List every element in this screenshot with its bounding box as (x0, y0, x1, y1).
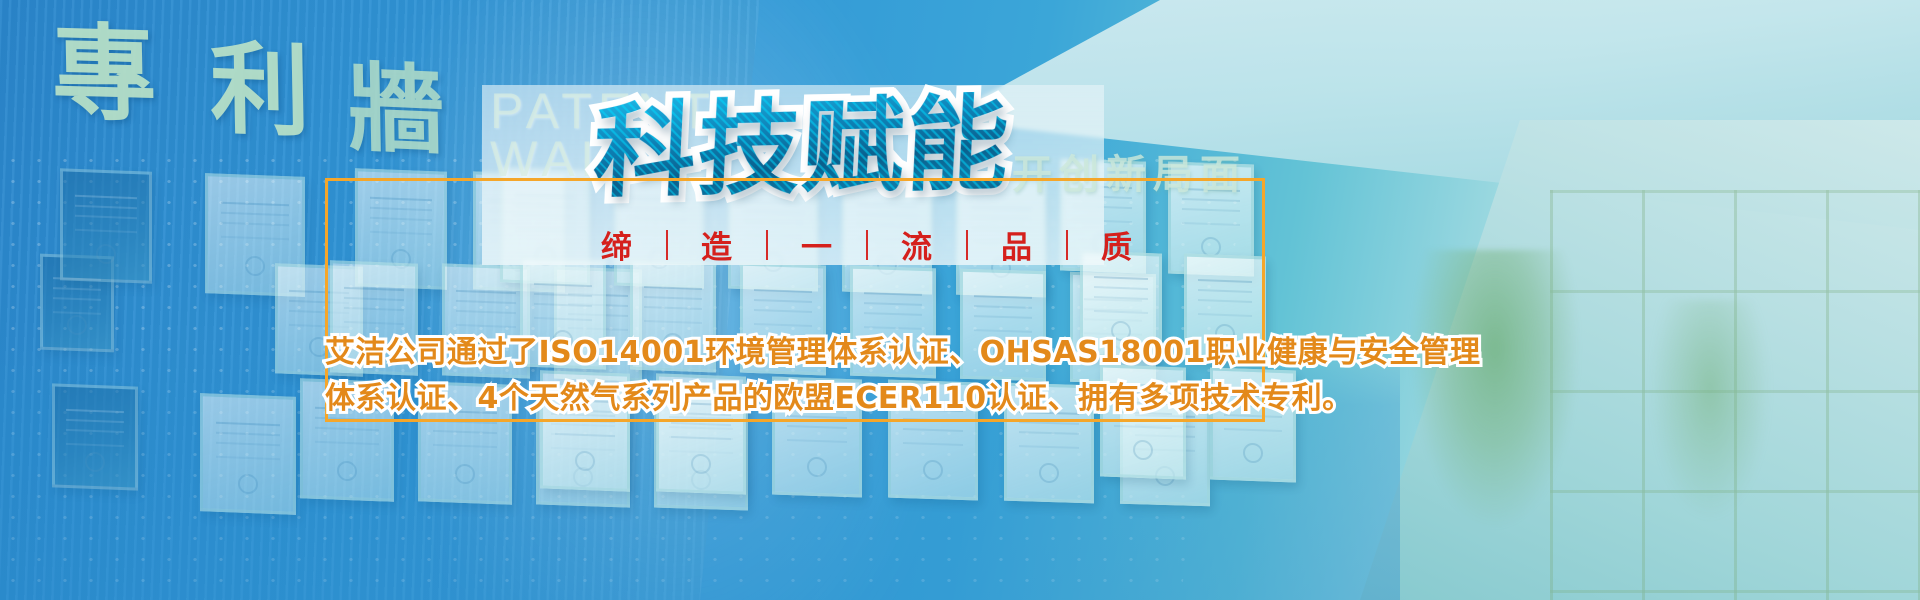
slogan-separator (1066, 230, 1068, 260)
paragraph-line-1: 艾洁公司通过了ISO14001环境管理体系认证、OHSAS18001职业健康与安… (325, 330, 1265, 376)
certificate-frame (200, 393, 296, 515)
certificate-seal-icon (238, 474, 258, 495)
slogan-word: 品 (990, 222, 1044, 267)
slogan-row: 缔造一流品质 (590, 222, 1144, 267)
certificate-seal-icon (807, 457, 827, 478)
paragraph-line-2: 体系认证、4个天然气系列产品的欧盟ECER110认证、拥有多项技术专利。 (325, 376, 1265, 422)
certificate-text-lines (344, 287, 403, 291)
certificate-text-lines (864, 292, 922, 296)
certificate-seal-icon (923, 460, 943, 481)
certificate-text-lines (754, 289, 812, 293)
slogan-word: 缔 (590, 222, 644, 267)
wall-character-2: 利 (209, 38, 313, 142)
slogan-separator (766, 230, 768, 260)
wall-character-1: 專 (51, 21, 159, 128)
slogan-separator (866, 230, 868, 260)
certificate-text-lines (216, 421, 281, 425)
slogan-word: 一 (790, 222, 844, 267)
wall-character-3: 牆 (347, 60, 447, 160)
slogan-separator (666, 230, 668, 260)
description-paragraph: 艾洁公司通过了ISO14001环境管理体系认证、OHSAS18001职业健康与安… (325, 330, 1265, 421)
slogan-word: 造 (690, 222, 744, 267)
certificate-seal-icon (1039, 463, 1059, 484)
plant-decoration (1410, 250, 1580, 530)
certificate-seal-icon (96, 244, 116, 265)
certificate-text-lines (370, 196, 432, 200)
certificate-seal-icon (67, 315, 87, 336)
certificate-text-lines (75, 195, 137, 199)
certificate-seal-icon (1243, 443, 1263, 464)
certificate-seal-icon (691, 454, 711, 475)
certificate-text-lines (974, 295, 1032, 299)
certificate-text-lines (644, 286, 702, 290)
certificate-seal-icon (575, 451, 595, 472)
certificate-seal-icon (245, 256, 265, 277)
promo-banner: 專 利 牆 PATENT WALL 开创新局面 科技赋能 科技赋能 缔造一流品质… (0, 0, 1920, 600)
slogan-separator (966, 230, 968, 260)
certificate-seal-icon (85, 452, 105, 473)
certificate-text-lines (534, 283, 592, 287)
certificate-seal-icon (337, 461, 357, 482)
certificate-text-lines (1198, 279, 1253, 283)
certificate-text-lines (221, 202, 289, 207)
certificate-frame (52, 383, 138, 490)
slogan-word: 质 (1090, 222, 1144, 267)
certificate-seal-icon (1133, 440, 1153, 461)
certificate-seal-icon (455, 464, 475, 485)
ghost-text-chinese: 开创新局面 (1012, 142, 1247, 200)
certificate-text-lines (1094, 276, 1149, 280)
certificate-text-lines (456, 290, 515, 294)
headline-title: 科技赋能 (591, 88, 1013, 209)
certificate-text-lines (66, 408, 124, 412)
slogan-word: 流 (890, 222, 944, 267)
certificate-frame (60, 168, 152, 284)
plant-decoration-secondary (1650, 300, 1770, 520)
